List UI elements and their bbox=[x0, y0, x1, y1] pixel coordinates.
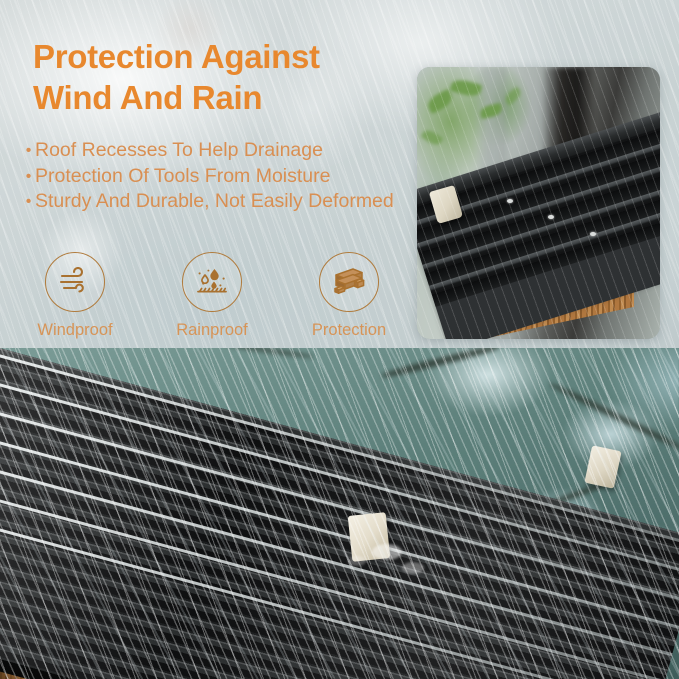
bullet-marker-icon: • bbox=[22, 138, 35, 164]
bullet-text: Protection Of Tools From Moisture bbox=[35, 164, 402, 190]
title-line-1: Protection Against bbox=[33, 36, 403, 77]
feature-label: Protection bbox=[312, 321, 386, 340]
bullet-text: Sturdy And Durable, Not Easily Deformed bbox=[35, 189, 402, 215]
inset-screw bbox=[507, 199, 513, 203]
list-item: • Roof Recesses To Help Drainage bbox=[22, 138, 402, 164]
title-line-2: Wind And Rain bbox=[33, 77, 403, 118]
feature-protection: Protection bbox=[288, 252, 410, 340]
water-splash bbox=[348, 556, 366, 566]
list-item: • Sturdy And Durable, Not Easily Deforme… bbox=[22, 189, 402, 215]
bullet-marker-icon: • bbox=[22, 164, 35, 190]
main-product-photo bbox=[0, 348, 679, 679]
inset-detail-photo bbox=[417, 67, 660, 339]
bullet-text: Roof Recesses To Help Drainage bbox=[35, 138, 402, 164]
water-splash bbox=[402, 562, 424, 574]
bullet-marker-icon: • bbox=[22, 189, 35, 215]
feature-windproof: Windproof bbox=[14, 252, 136, 340]
feature-badge-row: Windproof bbox=[14, 252, 410, 340]
wind-icon bbox=[58, 267, 92, 297]
rainproof-badge bbox=[182, 252, 242, 312]
water-splash bbox=[372, 544, 402, 560]
inset-screw bbox=[590, 232, 596, 236]
protection-badge bbox=[319, 252, 379, 312]
feature-bullet-list: • Roof Recesses To Help Drainage • Prote… bbox=[22, 138, 402, 215]
feature-label: Windproof bbox=[37, 321, 112, 340]
page-title: Protection Against Wind And Rain bbox=[33, 36, 403, 118]
stacked-lumber-icon bbox=[331, 266, 367, 299]
list-item: • Protection Of Tools From Moisture bbox=[22, 164, 402, 190]
product-feature-banner: Protection Against Wind And Rain • Roof … bbox=[0, 0, 679, 679]
feature-rainproof: Rainproof bbox=[151, 252, 273, 340]
windproof-badge bbox=[45, 252, 105, 312]
raindrop-surface-icon bbox=[195, 266, 229, 298]
feature-label: Rainproof bbox=[176, 321, 248, 340]
